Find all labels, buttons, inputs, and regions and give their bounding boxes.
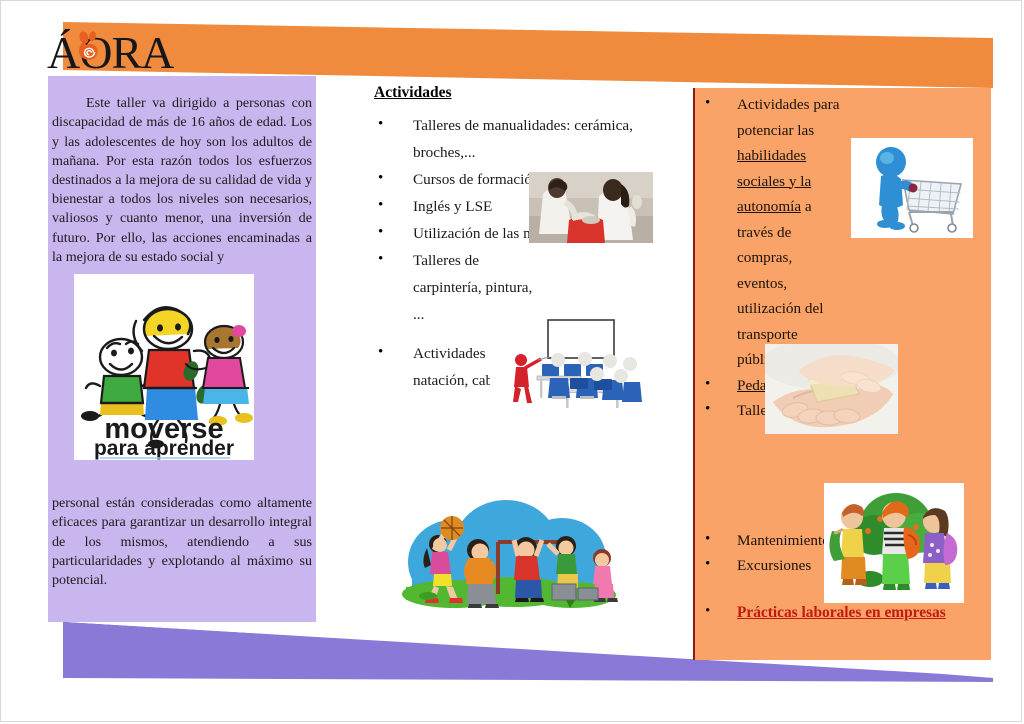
list-item-text-plain-1: Actividades para potenciar las: [737, 96, 839, 139]
list-item-text-plain-2: a través de compras, eventos, utilizació…: [737, 198, 823, 368]
intro-paragraph-text: Este taller va dirigido a personas con d…: [52, 95, 312, 265]
list-item-label: Excursiones: [737, 557, 811, 574]
middle-column: Actividades Talleres de manualidades: ce…: [372, 84, 662, 394]
highlight-list-item: • Prácticas laborales en empresas: [693, 603, 991, 623]
bullet-icon: •: [705, 603, 710, 620]
soap-in-hands-photo: [765, 344, 898, 434]
organization-logo: ÁORA: [47, 27, 207, 79]
list-item-label: Inglés y LSE: [413, 198, 492, 215]
right-orange-panel: Actividades para potenciar las habilidad…: [693, 88, 991, 660]
brochure-page: ÁORA Este taller va dirigido a personas …: [0, 0, 1024, 724]
intro-paragraph: Este taller va dirigido a personas con d…: [52, 94, 312, 267]
moverse-para-aprender-logo: moverse para aprender: [74, 274, 254, 460]
intro-paragraph-continued: personal están consideradas como altamen…: [52, 494, 312, 590]
taller-workshop-photo: [529, 172, 653, 243]
activities-heading: Actividades: [374, 84, 662, 102]
list-item-label: Talleres de manualidades: cerámica, broc…: [413, 117, 633, 161]
list-item: Talleres de manualidades: cerámica, broc…: [372, 112, 662, 166]
left-purple-panel: Este taller va dirigido a personas con d…: [48, 76, 316, 622]
logo-text: ÁORA: [47, 27, 173, 79]
excursion-hikers-figure: [824, 483, 964, 603]
list-item-label: Actividades para potenciar las habilidad…: [737, 92, 845, 373]
children-playing-figure: [394, 488, 620, 610]
snail-spiral-icon: [76, 30, 102, 64]
computer-classroom-figure: [490, 316, 642, 411]
list-item-label: Cursos de formación: [413, 166, 540, 193]
moverse-caption-line-2: para aprender: [94, 437, 234, 460]
highlight-list-item-label: Prácticas laborales en empresas: [737, 603, 991, 623]
shopping-cart-figure: [851, 138, 973, 238]
